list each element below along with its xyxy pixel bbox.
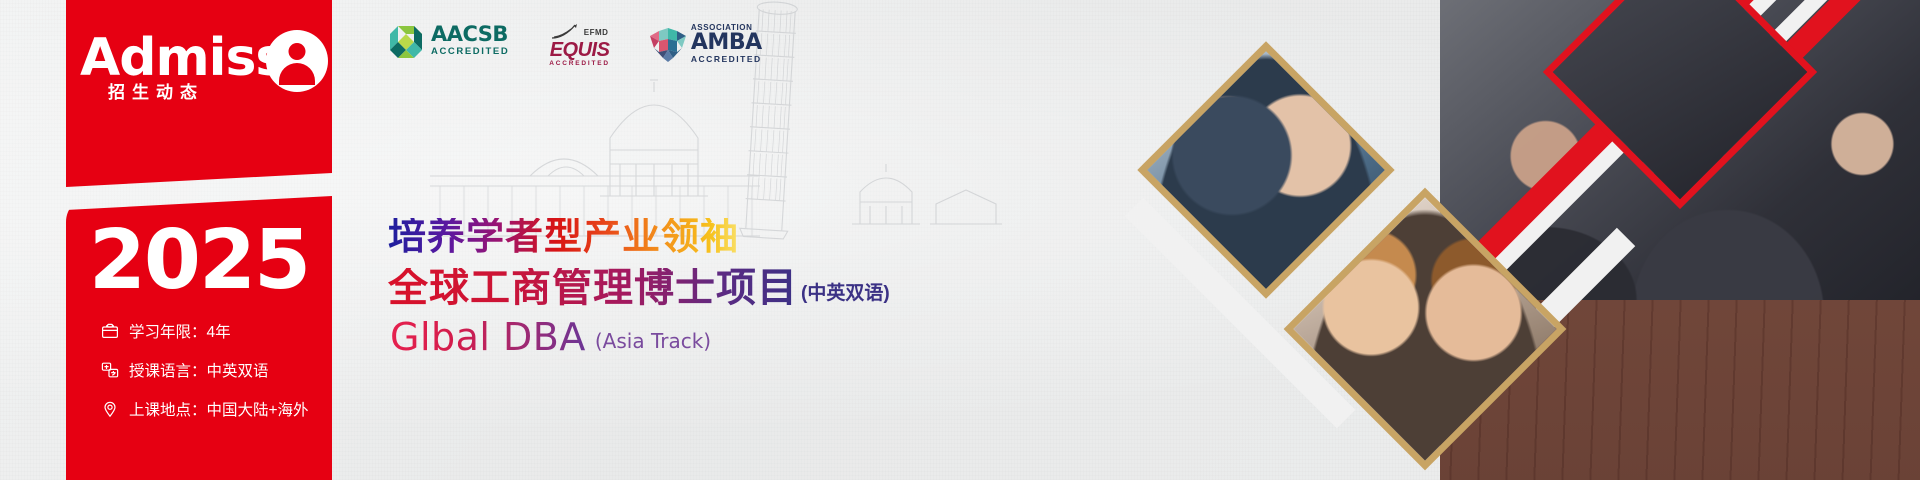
program-title-cn: 全球工商管理博士项目 (中英双语) <box>388 268 890 308</box>
aacsb-accreditation: AACSB ACCREDITED <box>388 24 509 60</box>
aacsb-logo-icon <box>388 24 424 60</box>
program-title-cn-text: 全球工商管理博士项目 <box>388 268 798 308</box>
amba-logo-icon <box>650 28 686 62</box>
program-title-en-text: Glbal DBA <box>390 318 586 356</box>
amba-text-block: ASSOCIATION AMBA ACCREDITED <box>691 24 762 65</box>
equis-swoosh-icon <box>551 24 581 40</box>
admission-logo: Admissi 招生动态 <box>66 22 332 132</box>
equis-accreditation: EFMD EQUIS ACCREDITED <box>549 24 610 67</box>
aacsb-text-block: AACSB ACCREDITED <box>431 24 509 59</box>
program-title-cn-note: (中英双语) <box>801 278 890 308</box>
photo-collage: 卓越学术 Academic Rigor 产学相结合 Industry-Acade… <box>1120 0 1920 480</box>
info-duration-label: 学习年限：4年 <box>129 320 231 342</box>
info-row-location: 上课地点：中国大陆+海外 <box>100 398 340 420</box>
equis-accredited-label: ACCREDITED <box>549 60 610 67</box>
aacsb-name: AACSB <box>431 24 509 45</box>
person-body-shape <box>279 63 315 85</box>
program-info-list: 学习年限：4年 授课语言：中英双语 <box>100 320 340 437</box>
language-icon <box>100 360 120 380</box>
location-pin-icon <box>100 399 120 419</box>
admission-banner: Admissi 招生动态 2025 学习年限：4年 <box>0 0 1920 480</box>
accreditation-logos: AACSB ACCREDITED EFMD EQUIS ACCREDITED <box>388 24 762 67</box>
amba-name: AMBA <box>691 32 762 54</box>
amba-accredited-label: ACCREDITED <box>691 54 762 65</box>
aacsb-accredited-label: ACCREDITED <box>431 45 509 59</box>
info-row-language: 授课语言：中英双语 <box>100 359 340 381</box>
equis-name: EQUIS <box>549 40 610 60</box>
year-label: 2025 <box>66 220 332 302</box>
tagline-heading: 培养学者型产业领袖 <box>388 218 739 256</box>
program-title-en-note: (Asia Track) <box>595 329 711 356</box>
info-row-duration: 学习年限：4年 <box>100 320 340 342</box>
person-head-shape <box>289 43 306 60</box>
equis-logo-icon: EFMD EQUIS ACCREDITED <box>549 24 610 67</box>
program-title-en: Glbal DBA (Asia Track) <box>390 318 711 356</box>
left-red-panel: Admissi 招生动态 2025 学习年限：4年 <box>66 0 332 480</box>
info-language-label: 授课语言：中英双语 <box>129 359 269 381</box>
amba-accreditation: ASSOCIATION AMBA ACCREDITED <box>650 24 762 65</box>
admission-chinese-label: 招生动态 <box>108 78 204 103</box>
efmd-label: EFMD <box>584 28 609 37</box>
info-location-label: 上课地点：中国大陆+海外 <box>129 398 309 420</box>
person-icon <box>266 30 328 92</box>
calendar-icon <box>100 321 120 341</box>
